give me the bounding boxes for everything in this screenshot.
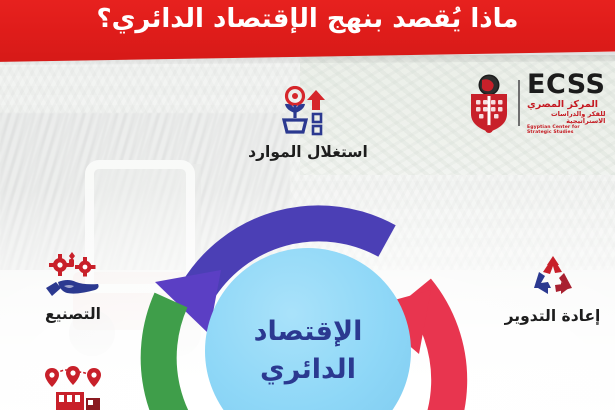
node-recycling[interactable]: إعادة التدوير xyxy=(490,254,615,325)
node-manufacturing-label: التصنيع xyxy=(45,305,101,323)
node-resources[interactable]: استغلال الموارد xyxy=(205,86,411,161)
logo-divider xyxy=(518,80,520,126)
logo-wordmark: ECSS xyxy=(527,71,605,98)
node-recycling-label: إعادة التدوير xyxy=(505,307,601,325)
node-manufacturing[interactable]: التصنيع xyxy=(2,250,144,323)
logo-english-line: Egyptian Center for Strategic Studies xyxy=(527,126,605,135)
plant-pot-growth-icon xyxy=(280,86,336,140)
node-resources-label: استغلال الموارد xyxy=(248,143,368,161)
hand-gears-icon xyxy=(44,250,102,302)
node-distribution[interactable] xyxy=(2,366,144,410)
recycle-icon xyxy=(528,254,578,304)
center-label: الإقتصاد الدائري xyxy=(205,248,411,410)
page-title: ماذا يُقصد بنهج الإقتصاد الدائري؟ xyxy=(0,4,615,34)
logo-arabic-line1: المركز المصري xyxy=(527,100,598,110)
ecss-emblem-icon xyxy=(467,73,511,133)
logo-arabic-line2: للفكر والدراسات الاستراتيجية xyxy=(527,111,605,124)
map-pins-warehouse-icon xyxy=(42,366,104,410)
center-line-1: الإقتصاد xyxy=(254,318,363,346)
ecss-logo[interactable]: ECSS المركز المصري للفكر والدراسات الاست… xyxy=(467,66,603,140)
infographic-canvas: ماذا يُقصد بنهج الإقتصاد الدائري؟ xyxy=(0,0,615,410)
center-line-2: الدائري xyxy=(260,356,356,384)
